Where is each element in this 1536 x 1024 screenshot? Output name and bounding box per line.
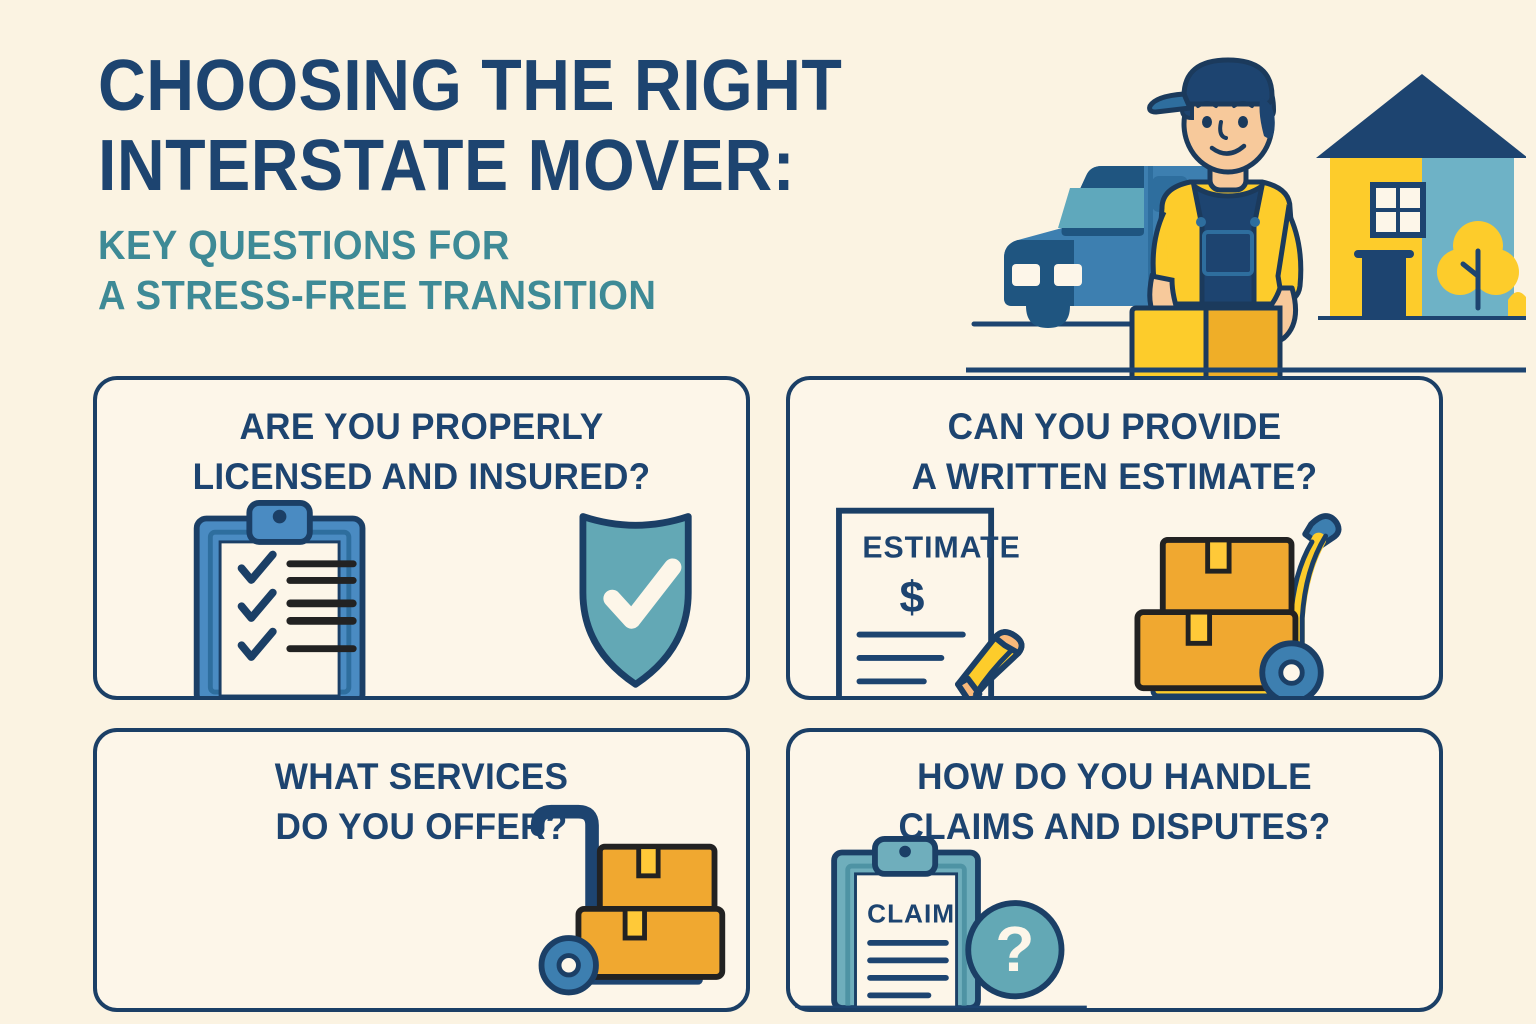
card-1-title: ARE YOU PROPERLY LICENSED AND INSURED?: [97, 402, 746, 502]
card-2-title: CAN YOU PROVIDE A WRITTEN ESTIMATE?: [790, 402, 1439, 502]
page-subtitle: KEY QUESTIONS FOR A STRESS-FREE TRANSITI…: [98, 220, 1058, 320]
claim-clipboard-icon: CLAIM: [834, 839, 978, 1008]
subtitle-line-1: KEY QUESTIONS FOR: [98, 220, 991, 270]
question-mark-circle-icon: ?: [968, 903, 1061, 996]
shield-check-icon: [583, 517, 688, 685]
card-1-title-line-1: ARE YOU PROPERLY: [113, 402, 730, 452]
title-line-2: INTERSTATE MOVER:: [98, 126, 981, 206]
card-claims-disputes[interactable]: HOW DO YOU HANDLE CLAIMS AND DISPUTES? C…: [786, 728, 1443, 1012]
card-written-estimate[interactable]: CAN YOU PROVIDE A WRITTEN ESTIMATE? ESTI…: [786, 376, 1443, 700]
pencil-icon: [958, 632, 1022, 696]
house-icon: [1316, 74, 1526, 318]
card-4-title-line-1: HOW DO YOU HANDLE: [806, 752, 1423, 802]
card-3-title-line-2: DO YOU OFFER?: [113, 802, 730, 852]
estimate-document-icon: ESTIMATE $: [839, 511, 1021, 696]
card-services-offered[interactable]: WHAT SERVICES DO YOU OFFER?: [93, 728, 750, 1012]
card-3-title: WHAT SERVICES DO YOU OFFER?: [97, 752, 746, 852]
question-cards-grid: ARE YOU PROPERLY LICENSED AND INSURED?: [0, 372, 1536, 1024]
card-4-title-line-2: CLAIMS AND DISPUTES?: [806, 802, 1423, 852]
clipboard-checklist-icon: [197, 503, 363, 696]
title-line-1: CHOOSING THE RIGHT: [98, 46, 981, 126]
hand-truck-boxes-icon: [1137, 516, 1338, 696]
card-1-title-line-2: LICENSED AND INSURED?: [113, 452, 730, 502]
infographic-root: CHOOSING THE RIGHT INTERSTATE MOVER: KEY…: [0, 0, 1536, 1024]
claim-label: CLAIM: [867, 898, 955, 928]
card-licensed-insured[interactable]: ARE YOU PROPERLY LICENSED AND INSURED?: [93, 376, 750, 700]
header: CHOOSING THE RIGHT INTERSTATE MOVER: KEY…: [0, 0, 1536, 372]
estimate-label: ESTIMATE: [862, 532, 1020, 565]
subtitle-line-2: A STRESS-FREE TRANSITION: [98, 270, 991, 320]
card-2-title-line-1: CAN YOU PROVIDE: [806, 402, 1423, 452]
card-2-title-line-2: A WRITTEN ESTIMATE?: [806, 452, 1423, 502]
svg-text:?: ?: [995, 913, 1034, 985]
dollar-symbol: $: [899, 571, 924, 622]
mover-with-box-truck-house-illustration: [966, 36, 1526, 376]
card-4-title: HOW DO YOU HANDLE CLAIMS AND DISPUTES?: [790, 752, 1439, 852]
page-title: CHOOSING THE RIGHT INTERSTATE MOVER: KEY…: [98, 46, 1058, 320]
card-3-title-line-1: WHAT SERVICES: [113, 752, 730, 802]
